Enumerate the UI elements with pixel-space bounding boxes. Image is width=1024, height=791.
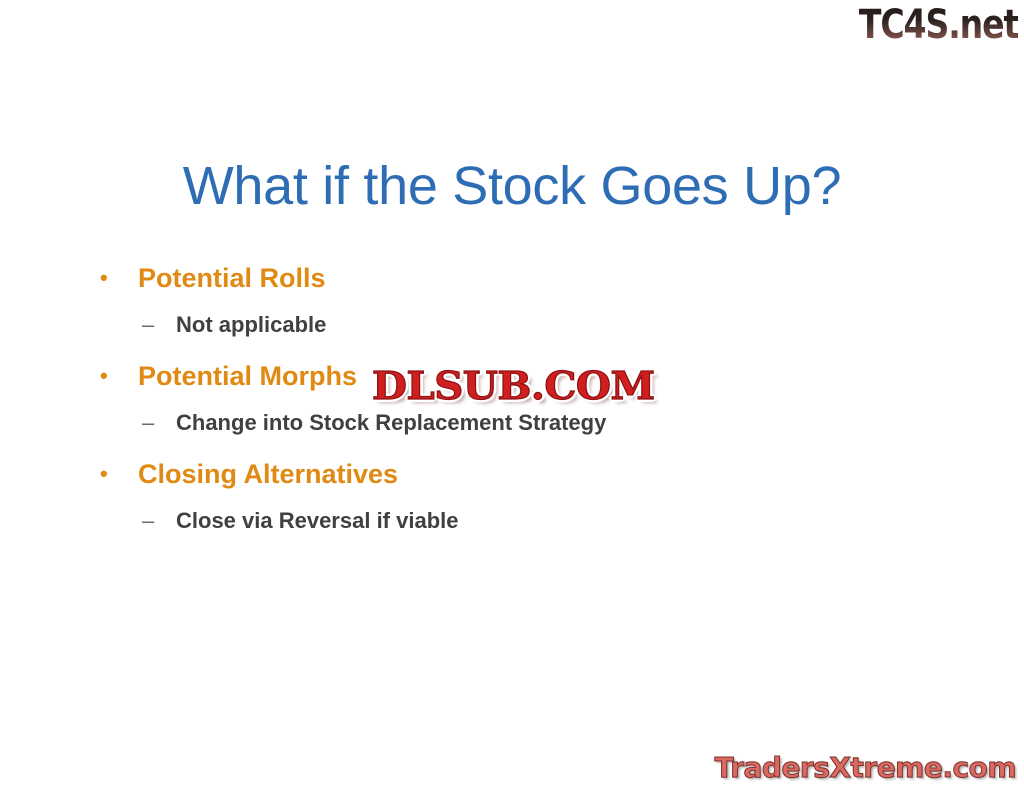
- bullet-group: • Potential Rolls – Not applicable: [96, 254, 946, 348]
- bullet-dot-icon: •: [96, 450, 138, 498]
- sub-bullet-label: Not applicable: [176, 302, 326, 348]
- bullet-item-level1: • Potential Morphs: [96, 352, 946, 400]
- dash-marker-icon: –: [142, 302, 176, 348]
- bullet-group: • Closing Alternatives – Close via Rever…: [96, 450, 946, 544]
- bullet-item-level1: • Closing Alternatives: [96, 450, 946, 498]
- bullet-list: • Potential Rolls – Not applicable • Pot…: [96, 254, 946, 544]
- sub-bullet-label: Close via Reversal if viable: [176, 498, 459, 544]
- bullet-group: • Potential Morphs – Change into Stock R…: [96, 352, 946, 446]
- presentation-slide: TC4S.net What if the Stock Goes Up? • Po…: [0, 0, 1024, 791]
- bullet-item-level2: – Change into Stock Replacement Strategy: [96, 400, 946, 446]
- bullet-item-level2: – Close via Reversal if viable: [96, 498, 946, 544]
- bullet-label: Closing Alternatives: [138, 450, 398, 498]
- tc4s-logo: TC4S.net: [859, 2, 1018, 48]
- slide-title: What if the Stock Goes Up?: [0, 154, 1024, 218]
- dash-marker-icon: –: [142, 400, 176, 446]
- bullet-label: Potential Rolls: [138, 254, 326, 302]
- dash-marker-icon: –: [142, 498, 176, 544]
- bullet-item-level2: – Not applicable: [96, 302, 946, 348]
- bullet-dot-icon: •: [96, 352, 138, 400]
- tradersxtreme-logo: TradersXtreme.com: [715, 751, 1016, 785]
- bullet-item-level1: • Potential Rolls: [96, 254, 946, 302]
- sub-bullet-label: Change into Stock Replacement Strategy: [176, 400, 606, 446]
- bullet-dot-icon: •: [96, 254, 138, 302]
- bullet-label: Potential Morphs: [138, 352, 357, 400]
